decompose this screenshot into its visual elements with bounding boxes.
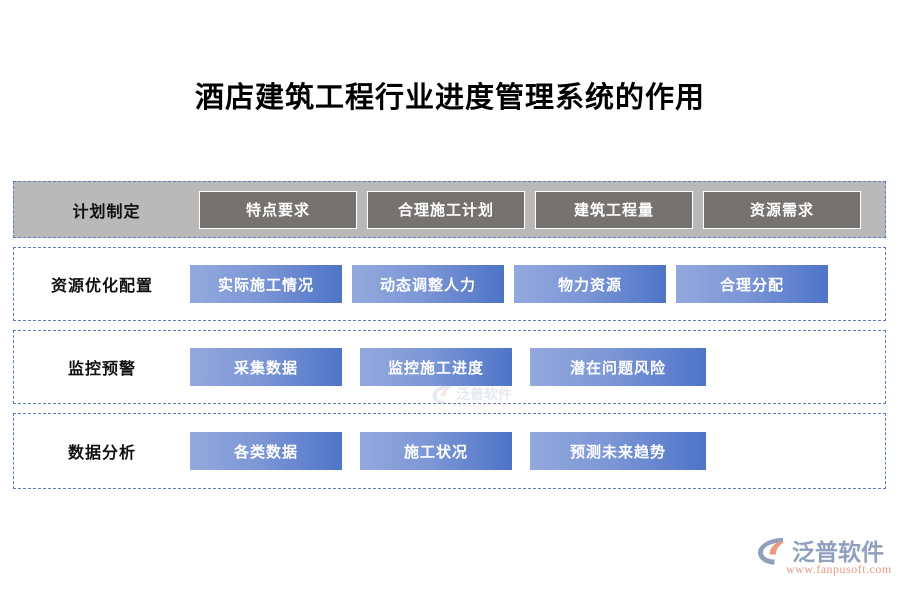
node-monitor-1[interactable]: 采集数据 <box>190 348 342 386</box>
node-plan-1[interactable]: 特点要求 <box>199 191 357 229</box>
node-resource-1[interactable]: 实际施工情况 <box>190 265 342 303</box>
row-nodes-analysis: 各类数据 施工状况 预测未来趋势 <box>190 432 885 470</box>
row-nodes-plan: 特点要求 合理施工计划 建筑工程量 资源需求 <box>199 191 885 229</box>
diagram-row-plan: 计划制定 特点要求 合理施工计划 建筑工程量 资源需求 <box>13 181 886 238</box>
brand-logo: 泛普软件 www.fanpusoft.com <box>756 532 884 582</box>
process-diagram: 计划制定 特点要求 合理施工计划 建筑工程量 资源需求 资源优化配置 实际施工情… <box>13 181 886 489</box>
diagram-row-monitor: 监控预警 采集数据 监控施工进度 潜在问题风险 <box>13 330 886 404</box>
node-analysis-1[interactable]: 各类数据 <box>190 432 342 470</box>
page-title: 酒店建筑工程行业进度管理系统的作用 <box>0 74 900 116</box>
node-plan-3[interactable]: 建筑工程量 <box>535 191 693 229</box>
row-label-plan: 计划制定 <box>14 198 199 222</box>
row-label-monitor: 监控预警 <box>14 355 190 379</box>
diagram-row-analysis: 数据分析 各类数据 施工状况 预测未来趋势 <box>13 413 886 489</box>
row-nodes-resource: 实际施工情况 动态调整人力 物力资源 合理分配 <box>190 265 885 303</box>
row-label-resource: 资源优化配置 <box>14 272 190 296</box>
node-monitor-3[interactable]: 潜在问题风险 <box>530 348 706 386</box>
node-analysis-3[interactable]: 预测未来趋势 <box>530 432 706 470</box>
diagram-row-resource: 资源优化配置 实际施工情况 动态调整人力 物力资源 合理分配 <box>13 247 886 321</box>
node-monitor-2[interactable]: 监控施工进度 <box>360 348 512 386</box>
node-resource-3[interactable]: 物力资源 <box>514 265 666 303</box>
row-nodes-monitor: 采集数据 监控施工进度 潜在问题风险 <box>190 348 885 386</box>
node-resource-4[interactable]: 合理分配 <box>676 265 828 303</box>
fanpu-swoosh-icon <box>756 536 788 566</box>
node-analysis-2[interactable]: 施工状况 <box>360 432 512 470</box>
node-resource-2[interactable]: 动态调整人力 <box>352 265 504 303</box>
logo-url: www.fanpusoft.com <box>786 562 892 577</box>
row-label-analysis: 数据分析 <box>14 439 190 463</box>
node-plan-2[interactable]: 合理施工计划 <box>367 191 525 229</box>
node-plan-4[interactable]: 资源需求 <box>703 191 861 229</box>
